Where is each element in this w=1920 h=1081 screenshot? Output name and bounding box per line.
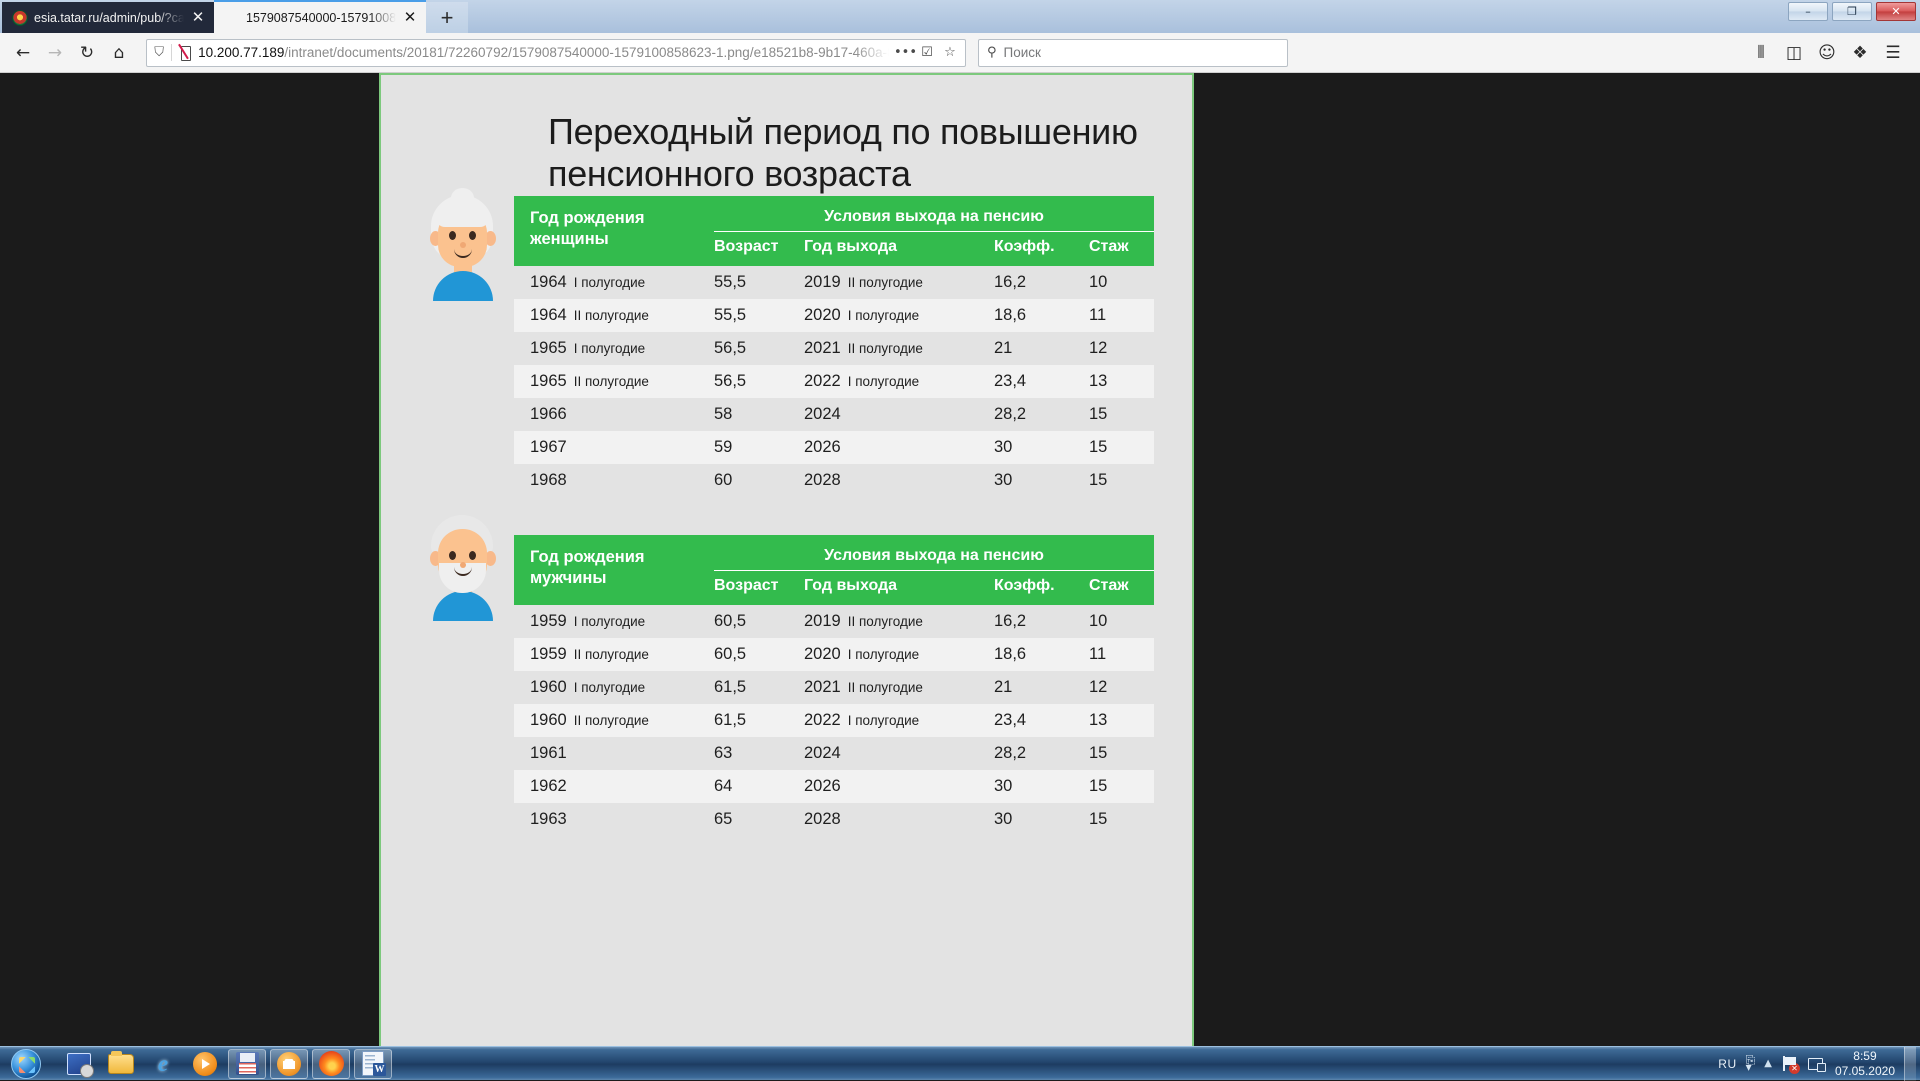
cell-coefficient: 18,6 [994, 299, 1089, 332]
cell-coefficient: 30 [994, 431, 1089, 464]
cell-age-value: 60 [714, 471, 732, 489]
col-header-exit-year: Год выхода [804, 231, 994, 266]
windows-taskbar: e RU ⎘▾ ▲ ✕ 8:59 07.05.2020 [0, 1046, 1920, 1080]
table-row: 1964I полугодие55,52019II полугодие16,21… [514, 266, 1154, 299]
cell-age-value: 60,5 [714, 612, 746, 630]
col-header-experience: Стаж [1089, 570, 1154, 605]
cell-experience: 12 [1089, 332, 1154, 365]
table-row: 1959I полугодие60,52019II полугодие16,21… [514, 605, 1154, 638]
col-header-exit-year: Год выхода [804, 570, 994, 605]
cell-age: 63 [714, 737, 804, 770]
tab-image[interactable]: 1579087540000-1579100858623-1.pn ✕ [214, 0, 426, 33]
show-desktop-button[interactable] [1904, 1047, 1916, 1081]
media-player-icon[interactable] [186, 1049, 224, 1079]
page-actions-icon[interactable]: ••• [894, 45, 914, 60]
cell-experience-value: 10 [1089, 612, 1107, 630]
cell-age-value: 55,5 [714, 273, 746, 291]
cell-experience: 15 [1089, 431, 1154, 464]
url-host: 10.200.77.189 [198, 45, 284, 60]
new-tab-button[interactable]: + [426, 2, 468, 33]
cell-experience: 15 [1089, 803, 1154, 836]
explorer-icon[interactable] [102, 1049, 140, 1079]
cell-experience-value: 11 [1089, 645, 1106, 663]
search-icon: ⚲ [987, 45, 997, 60]
col-header-experience: Стаж [1089, 231, 1154, 266]
cell-age-value: 56,5 [714, 372, 746, 390]
elderly-man-avatar-icon [425, 515, 501, 615]
cell-birth-year: 1965II полугодие [514, 365, 714, 398]
orange-app-icon[interactable] [270, 1049, 308, 1079]
table-row: 1964II полугодие55,52020I полугодие18,61… [514, 299, 1154, 332]
cell-coefficient-value: 30 [994, 810, 1012, 828]
url-path: /intranet/documents/20181/72260792/15790… [284, 45, 889, 60]
cell-exit-year-value: 2022 [804, 711, 841, 729]
cell-coefficient-value: 18,6 [994, 306, 1026, 324]
table-row: 1960II полугодие61,52022I полугодие23,41… [514, 704, 1154, 737]
cell-coefficient-value: 16,2 [994, 273, 1026, 291]
cell-birth-year: 1965I полугодие [514, 332, 714, 365]
cell-coefficient-value: 30 [994, 438, 1012, 456]
clock-time: 8:59 [1853, 1049, 1876, 1063]
cell-exit-year-half: II полугодие [848, 341, 923, 356]
remote-desktop-icon[interactable] [60, 1049, 98, 1079]
cell-coefficient-value: 18,6 [994, 645, 1026, 663]
cell-coefficient-value: 30 [994, 471, 1012, 489]
cell-exit-year-half: I полугодие [848, 647, 919, 662]
cell-age: 61,5 [714, 704, 804, 737]
internet-explorer-icon[interactable]: e [144, 1049, 182, 1079]
cell-coefficient: 30 [994, 770, 1089, 803]
cell-birth-year: 1959II полугодие [514, 638, 714, 671]
cell-experience: 15 [1089, 398, 1154, 431]
cell-birth-year-value: 1960 [530, 711, 567, 729]
table-gap [403, 497, 1170, 535]
cell-exit-year: 2022I полугодие [804, 365, 994, 398]
cell-birth-year-half: I полугодие [574, 341, 645, 356]
cell-experience: 15 [1089, 770, 1154, 803]
keyboard-layout-icon[interactable]: ⎘▾ [1746, 1057, 1756, 1071]
navigation-toolbar: ← → ↻ ⌂ ⛉ 10.200.77.189/intranet/documen… [0, 33, 1920, 73]
cell-birth-year-value: 1964 [530, 306, 567, 324]
cell-coefficient: 18,6 [994, 638, 1089, 671]
cell-experience: 11 [1089, 299, 1154, 332]
word-icon[interactable] [354, 1049, 392, 1079]
cell-birth-year-value: 1965 [530, 372, 567, 390]
cell-birth-year: 1968 [514, 464, 714, 497]
table-row: 196658202428,215 [514, 398, 1154, 431]
cell-exit-year: 2022I полугодие [804, 704, 994, 737]
cell-birth-year-half: I полугодие [574, 275, 645, 290]
cell-birth-year-half: II полугодие [574, 713, 649, 728]
bookmark-star-icon[interactable]: ☆ [940, 45, 960, 60]
cell-experience-value: 13 [1089, 711, 1107, 729]
table-head: Год рождения мужчины Условия выхода на п… [514, 535, 1154, 605]
action-center-flag-icon[interactable]: ✕ [1781, 1055, 1799, 1073]
cell-coefficient: 28,2 [994, 737, 1089, 770]
address-bar[interactable]: ⛉ 10.200.77.189/intranet/documents/20181… [146, 39, 966, 67]
cell-birth-year: 1959I полугодие [514, 605, 714, 638]
women-table-body: 1964I полугодие55,52019II полугодие16,21… [514, 266, 1154, 497]
cell-experience-value: 15 [1089, 438, 1107, 456]
cell-experience-value: 12 [1089, 339, 1107, 357]
table-head: Год рождения женщины Условия выхода на п… [514, 196, 1154, 266]
cell-exit-year-half: II полугодие [848, 614, 923, 629]
cell-birth-year-half: I полугодие [574, 614, 645, 629]
cell-coefficient: 28,2 [994, 398, 1089, 431]
cell-birth-year-value: 1959 [530, 612, 567, 630]
men-birth-year-header: Год рождения мужчины [514, 535, 714, 605]
cell-birth-year-value: 1961 [530, 744, 567, 762]
restore-button[interactable]: ❐ [1832, 2, 1872, 21]
cell-age: 56,5 [714, 332, 804, 365]
cell-coefficient-value: 16,2 [994, 612, 1026, 630]
reload-icon[interactable]: ↻ [72, 38, 102, 68]
cell-experience-value: 15 [1089, 777, 1107, 795]
windows-logo-icon [11, 1049, 41, 1079]
table-row: 1965II полугодие56,52022I полугодие23,41… [514, 365, 1154, 398]
table-row: 1959II полугодие60,52020I полугодие18,61… [514, 638, 1154, 671]
content-viewport: Переходный период по повышению пенсионно… [0, 73, 1920, 1046]
cell-experience-value: 15 [1089, 471, 1107, 489]
cell-birth-year-value: 1967 [530, 438, 567, 456]
cell-exit-year-value: 2028 [804, 810, 841, 828]
close-icon[interactable]: ✕ [190, 10, 206, 26]
page-title: Переходный период по повышению пенсионно… [548, 111, 1178, 196]
cell-age-value: 65 [714, 810, 732, 828]
table-row: 19675920263015 [514, 431, 1154, 464]
cell-birth-year-value: 1959 [530, 645, 567, 663]
divider [171, 44, 172, 61]
cell-age-value: 61,5 [714, 711, 746, 729]
cell-exit-year-value: 2024 [804, 744, 841, 762]
cell-coefficient-value: 28,2 [994, 405, 1026, 423]
cell-exit-year-value: 2026 [804, 777, 841, 795]
cell-coefficient: 30 [994, 803, 1089, 836]
cell-coefficient: 23,4 [994, 704, 1089, 737]
cell-exit-year-half: II полугодие [848, 275, 923, 290]
cell-birth-year: 1964II полугодие [514, 299, 714, 332]
cell-exit-year: 2028 [804, 464, 994, 497]
insecure-lock-icon[interactable] [177, 44, 193, 61]
taskbar-items: e [60, 1049, 392, 1079]
cell-age-value: 60,5 [714, 645, 746, 663]
cell-experience-value: 10 [1089, 273, 1107, 291]
back-icon[interactable]: ← [8, 38, 38, 68]
cell-exit-year-half: I полугодие [848, 374, 919, 389]
pension-infographic: Переходный период по повышению пенсионно… [379, 73, 1194, 1046]
group-header: Условия выхода на пенсию [714, 535, 1154, 571]
table-row: 1960I полугодие61,52021II полугодие2112 [514, 671, 1154, 704]
cell-exit-year-half: I полугодие [848, 713, 919, 728]
cell-experience-value: 15 [1089, 744, 1107, 762]
tab-title: esia.tatar.ru/admin/pub/?categ [34, 11, 184, 25]
cell-age: 55,5 [714, 299, 804, 332]
cell-experience-value: 11 [1089, 306, 1106, 324]
cell-birth-year-half: II полугодие [574, 308, 649, 323]
cell-birth-year-value: 1966 [530, 405, 567, 423]
cell-experience-value: 13 [1089, 372, 1107, 390]
cell-age: 60 [714, 464, 804, 497]
cell-birth-year-value: 1968 [530, 471, 567, 489]
tab-title: 1579087540000-1579100858623-1.pn [246, 11, 396, 25]
group-header: Условия выхода на пенсию [714, 196, 1154, 232]
cell-exit-year-half: II полугодие [848, 680, 923, 695]
cell-coefficient-value: 21 [994, 339, 1012, 357]
cell-exit-year: 2024 [804, 398, 994, 431]
cell-exit-year: 2019II полугодие [804, 605, 994, 638]
cell-exit-year-value: 2022 [804, 372, 841, 390]
cell-birth-year: 1962 [514, 770, 714, 803]
cell-age-value: 61,5 [714, 678, 746, 696]
minimize-button[interactable]: – [1788, 2, 1828, 21]
cell-age: 65 [714, 803, 804, 836]
cell-experience: 15 [1089, 464, 1154, 497]
cell-coefficient: 21 [994, 671, 1089, 704]
cell-experience: 10 [1089, 266, 1154, 299]
cell-coefficient-value: 28,2 [994, 744, 1026, 762]
cell-experience-value: 15 [1089, 405, 1107, 423]
cell-exit-year-value: 2020 [804, 645, 841, 663]
cell-experience-value: 12 [1089, 678, 1107, 696]
extensions-icon[interactable]: ❖ [1845, 38, 1875, 68]
cell-exit-year: 2024 [804, 737, 994, 770]
forward-icon[interactable]: → [40, 38, 70, 68]
cell-birth-year-half: II полугодие [574, 647, 649, 662]
tab-strip: esia.tatar.ru/admin/pub/?categ ✕ 1579087… [0, 0, 1920, 33]
clock[interactable]: 8:59 07.05.2020 [1835, 1049, 1895, 1079]
sidebar-icon[interactable]: ◫ [1779, 38, 1809, 68]
women-birth-year-header: Год рождения женщины [514, 196, 714, 266]
table-header-row: Год рождения женщины Условия выхода на п… [514, 196, 1154, 232]
cell-coefficient: 21 [994, 332, 1089, 365]
cell-birth-year-half: II полугодие [574, 374, 649, 389]
cell-birth-year: 1966 [514, 398, 714, 431]
table-row: 19626420263015 [514, 770, 1154, 803]
cell-age-value: 55,5 [714, 306, 746, 324]
cell-age-value: 64 [714, 777, 732, 795]
network-icon[interactable] [1808, 1056, 1826, 1072]
cell-exit-year: 2026 [804, 770, 994, 803]
cell-age-value: 63 [714, 744, 732, 762]
close-icon[interactable]: ✕ [402, 10, 418, 26]
search-placeholder: Поиск [1004, 45, 1041, 60]
toolbar-right: ⦀ ◫ ☺ ❖ ☰ [1746, 38, 1912, 68]
cell-birth-year-half: I полугодие [574, 680, 645, 695]
cell-exit-year: 2026 [804, 431, 994, 464]
system-tray: RU ⎘▾ ▲ ✕ 8:59 07.05.2020 [1718, 1047, 1920, 1081]
site-favicon-icon [12, 10, 28, 26]
cell-coefficient: 30 [994, 464, 1089, 497]
cell-birth-year-value: 1965 [530, 339, 567, 357]
cell-exit-year-value: 2021 [804, 678, 841, 696]
window-controls: – ❐ ✕ [1788, 2, 1916, 21]
cell-birth-year-value: 1962 [530, 777, 567, 795]
cell-exit-year-value: 2026 [804, 438, 841, 456]
cell-exit-year: 2021II полугодие [804, 332, 994, 365]
table-row: 19686020283015 [514, 464, 1154, 497]
cell-experience: 15 [1089, 737, 1154, 770]
cell-exit-year-value: 2024 [804, 405, 841, 423]
cell-age: 59 [714, 431, 804, 464]
menu-icon[interactable]: ☰ [1878, 38, 1908, 68]
save-app-icon[interactable] [228, 1049, 266, 1079]
cell-birth-year: 1967 [514, 431, 714, 464]
cell-exit-year: 2019II полугодие [804, 266, 994, 299]
show-hidden-icons-icon[interactable]: ▲ [1764, 1058, 1772, 1069]
cell-exit-year-value: 2020 [804, 306, 841, 324]
cell-birth-year-value: 1963 [530, 810, 567, 828]
cell-coefficient-value: 30 [994, 777, 1012, 795]
browser-window: esia.tatar.ru/admin/pub/?categ ✕ 1579087… [0, 0, 1920, 1046]
cell-experience: 12 [1089, 671, 1154, 704]
cell-coefficient: 16,2 [994, 605, 1089, 638]
cell-exit-year-half: I полугодие [848, 308, 919, 323]
cell-birth-year: 1960I полугодие [514, 671, 714, 704]
men-pension-table: Год рождения мужчины Условия выхода на п… [514, 535, 1154, 836]
cell-coefficient-value: 23,4 [994, 711, 1026, 729]
cell-experience: 10 [1089, 605, 1154, 638]
cell-coefficient-value: 23,4 [994, 372, 1026, 390]
cell-age: 55,5 [714, 266, 804, 299]
cell-experience-value: 15 [1089, 810, 1107, 828]
url-actions: ••• ☑ ☆ [894, 45, 960, 60]
col-header-age: Возраст [714, 231, 804, 266]
cell-coefficient: 23,4 [994, 365, 1089, 398]
cell-exit-year: 2020I полугодие [804, 638, 994, 671]
cell-age: 61,5 [714, 671, 804, 704]
shield-icon[interactable]: ⛉ [152, 45, 166, 60]
cell-exit-year: 2021II полугодие [804, 671, 994, 704]
cell-birth-year: 1963 [514, 803, 714, 836]
cell-birth-year-value: 1964 [530, 273, 567, 291]
search-bar[interactable]: ⚲ Поиск [978, 39, 1288, 67]
cell-coefficient-value: 21 [994, 678, 1012, 696]
account-icon[interactable]: ☺ [1812, 38, 1842, 68]
table-row: 1965I полугодие56,52021II полугодие2112 [514, 332, 1154, 365]
cell-age-value: 56,5 [714, 339, 746, 357]
cell-exit-year-value: 2021 [804, 339, 841, 357]
tab-esia[interactable]: esia.tatar.ru/admin/pub/?categ ✕ [2, 2, 214, 33]
home-icon[interactable]: ⌂ [104, 38, 134, 68]
col-header-age: Возраст [714, 570, 804, 605]
cell-experience: 13 [1089, 704, 1154, 737]
language-indicator[interactable]: RU [1718, 1057, 1736, 1071]
cell-coefficient: 16,2 [994, 266, 1089, 299]
cell-exit-year-value: 2019 [804, 612, 841, 630]
cell-birth-year: 1961 [514, 737, 714, 770]
firefox-icon[interactable] [312, 1049, 350, 1079]
col-header-coefficient: Коэфф. [994, 231, 1089, 266]
cell-birth-year-value: 1960 [530, 678, 567, 696]
table-row: 19636520283015 [514, 803, 1154, 836]
library-icon[interactable]: ⦀ [1746, 38, 1776, 68]
blank-favicon-icon [224, 10, 240, 26]
url-text: 10.200.77.189/intranet/documents/20181/7… [198, 45, 889, 60]
table-row: 196163202428,215 [514, 737, 1154, 770]
elderly-woman-avatar-icon [425, 195, 501, 295]
cell-age: 60,5 [714, 605, 804, 638]
cell-age: 56,5 [714, 365, 804, 398]
cell-experience: 13 [1089, 365, 1154, 398]
cell-age-value: 59 [714, 438, 732, 456]
cell-age: 60,5 [714, 638, 804, 671]
table-header-row: Год рождения мужчины Условия выхода на п… [514, 535, 1154, 571]
cell-age: 58 [714, 398, 804, 431]
start-button[interactable] [2, 1048, 50, 1080]
cell-age-value: 58 [714, 405, 732, 423]
cell-exit-year: 2020I полугодие [804, 299, 994, 332]
cell-birth-year: 1964I полугодие [514, 266, 714, 299]
cell-exit-year-value: 2019 [804, 273, 841, 291]
cell-exit-year: 2028 [804, 803, 994, 836]
cell-experience: 11 [1089, 638, 1154, 671]
clock-date: 07.05.2020 [1835, 1064, 1895, 1078]
close-window-button[interactable]: ✕ [1876, 2, 1916, 21]
reader-view-icon[interactable]: ☑ [917, 45, 937, 60]
cell-age: 64 [714, 770, 804, 803]
error-badge: ✕ [1789, 1063, 1800, 1074]
men-table-body: 1959I полугодие60,52019II полугодие16,21… [514, 605, 1154, 836]
col-header-coefficient: Коэфф. [994, 570, 1089, 605]
women-pension-table: Год рождения женщины Условия выхода на п… [514, 196, 1154, 497]
cell-birth-year: 1960II полугодие [514, 704, 714, 737]
cell-exit-year-value: 2028 [804, 471, 841, 489]
